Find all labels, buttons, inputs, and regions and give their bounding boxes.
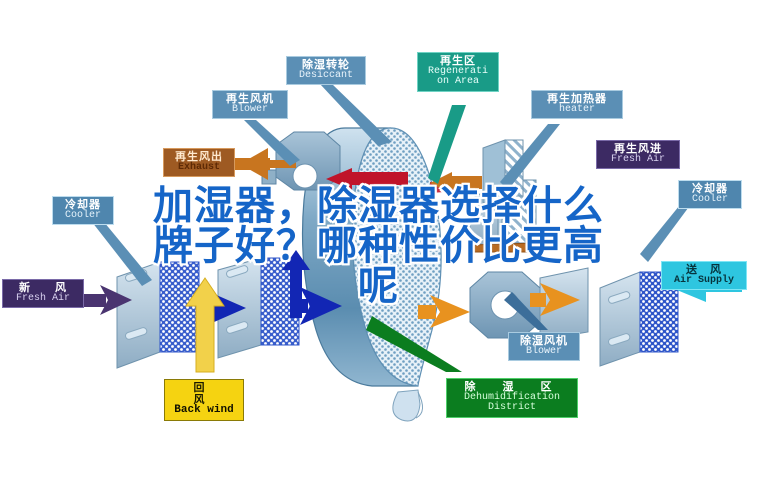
- label-exhaust-cn: 再生风出: [169, 151, 229, 163]
- label-air-supply[interactable]: 送 风 Air Supply: [661, 261, 747, 290]
- label-dehumidification-district-en-line2: District: [452, 403, 572, 414]
- label-dehumidification-district[interactable]: 除 湿 区 Dehumidification District: [446, 378, 578, 418]
- cooling-coil-1: [117, 262, 199, 368]
- label-regeneration-fresh-air-cn: 再生风进: [602, 143, 674, 155]
- label-desiccant-wheel[interactable]: 除湿转轮 Desiccant: [286, 56, 366, 85]
- label-dehumidify-blower-en: Blower: [514, 347, 574, 358]
- label-cooler-left-cn: 冷却器: [58, 199, 108, 211]
- diagram-canvas: x1: [0, 0, 757, 488]
- blower-housing-dehumid: [470, 268, 588, 340]
- label-regeneration-blower-en: Blower: [218, 105, 282, 116]
- label-air-supply-en: Air Supply: [667, 276, 741, 287]
- label-regeneration-heater[interactable]: 再生加热器 heater: [531, 90, 623, 119]
- label-regeneration-area-en-line2: on Area: [423, 77, 493, 88]
- label-air-supply-cn: 送 风: [667, 264, 741, 276]
- label-dehumidify-blower[interactable]: 除湿风机 Blower: [508, 332, 580, 361]
- label-back-wind-cn: 回 风: [170, 382, 238, 405]
- label-desiccant-wheel-cn: 除湿转轮: [292, 59, 360, 71]
- label-regeneration-area-cn: 再生区: [423, 55, 493, 67]
- label-back-wind[interactable]: 回 风 Back wind: [164, 379, 244, 421]
- label-regeneration-blower-cn: 再生风机: [218, 93, 282, 105]
- label-cooler-left-en: Cooler: [58, 211, 108, 222]
- label-back-wind-en: Back wind: [170, 405, 238, 417]
- label-regeneration-area[interactable]: 再生区 Regenerati on Area: [417, 52, 499, 92]
- label-regeneration-blower[interactable]: 再生风机 Blower: [212, 90, 288, 119]
- leader-regen-area: [428, 105, 466, 184]
- label-cooler-left[interactable]: 冷却器 Cooler: [52, 196, 114, 225]
- label-dehumidification-district-cn: 除 湿 区: [452, 381, 572, 393]
- label-exhaust[interactable]: 再生风出 Exhaust: [163, 148, 235, 177]
- label-regeneration-fresh-air[interactable]: 再生风进 Fresh Air: [596, 140, 680, 169]
- label-regeneration-heater-en: heater: [537, 105, 617, 116]
- diagram-artwork: x1: [0, 0, 757, 488]
- label-exhaust-en: Exhaust: [169, 163, 229, 174]
- label-fresh-air-cn: 新 风: [8, 282, 78, 294]
- label-fresh-air[interactable]: 新 风 Fresh Air: [2, 279, 84, 308]
- label-desiccant-wheel-en: Desiccant: [292, 71, 360, 82]
- label-regeneration-heater-cn: 再生加热器: [537, 93, 617, 105]
- label-regeneration-fresh-air-en: Fresh Air: [602, 155, 674, 166]
- label-cooler-right[interactable]: 冷却器 Cooler: [678, 180, 742, 209]
- label-cooler-right-en: Cooler: [684, 195, 736, 206]
- leader-cooler-right: [640, 200, 694, 262]
- label-fresh-air-en: Fresh Air: [8, 294, 78, 305]
- label-cooler-right-cn: 冷却器: [684, 183, 736, 195]
- label-dehumidify-blower-cn: 除湿风机: [514, 335, 574, 347]
